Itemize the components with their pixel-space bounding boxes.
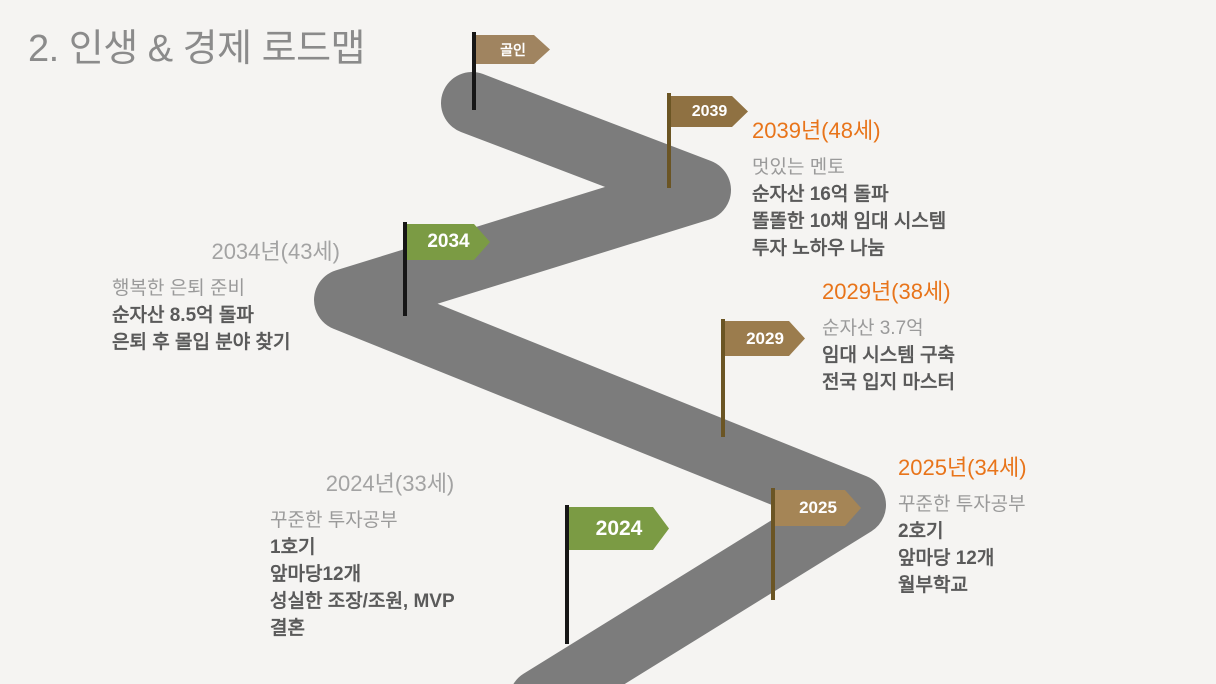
- flag-pole: [721, 319, 725, 437]
- milestone-line: 앞마당 12개: [898, 545, 1027, 572]
- milestone-2024: 2024년(33세) 꾸준한 투자공부 1호기 앞마당12개 성실한 조장/조원…: [270, 466, 510, 642]
- flag-label: 2025: [799, 498, 837, 518]
- milestone-2039: 2039년(48세) 멋있는 멘토 순자산 16억 돌파 똘똘한 10채 임대 …: [752, 113, 946, 262]
- milestone-line: 월부학교: [898, 572, 1027, 599]
- flag-pole: [403, 222, 407, 316]
- milestone-line: 순자산 3.7억: [822, 315, 955, 342]
- flag-pole: [472, 32, 476, 110]
- milestone-line: 멋있는 멘토: [752, 154, 946, 181]
- milestone-heading: 2025년(34세): [898, 450, 1027, 482]
- milestone-2025: 2025년(34세) 꾸준한 투자공부 2호기 앞마당 12개 월부학교: [898, 450, 1027, 599]
- roadmap-slide: 2. 인생 & 경제 로드맵 골인 2039 2034 2029 2025: [0, 0, 1216, 684]
- flag-banner: 2025: [775, 490, 861, 526]
- milestone-line: 꾸준한 투자공부: [898, 491, 1027, 518]
- milestone-line: 결혼: [270, 615, 510, 642]
- milestone-line: 앞마당12개: [270, 561, 510, 588]
- milestone-line: 순자산 8.5억 돌파: [112, 302, 340, 329]
- milestone-line: 2호기: [898, 518, 1027, 545]
- flag-banner: 2034: [407, 224, 490, 260]
- flag-label: 2034: [427, 231, 469, 253]
- flag-banner: 2039: [671, 96, 748, 127]
- milestone-line: 은퇴 후 몰입 분야 찾기: [112, 329, 340, 356]
- milestone-heading: 2039년(48세): [752, 113, 946, 145]
- milestone-heading: 2034년(43세): [112, 234, 340, 266]
- milestone-2029: 2029년(38세) 순자산 3.7억 임대 시스템 구축 전국 입지 마스터: [822, 274, 955, 396]
- flag-pole: [771, 488, 775, 600]
- flag-label: 골인: [500, 40, 526, 60]
- milestone-line: 꾸준한 투자공부: [270, 507, 510, 534]
- flag-label: 2039: [692, 103, 728, 121]
- milestone-2034: 2034년(43세) 행복한 은퇴 준비 순자산 8.5억 돌파 은퇴 후 몰입…: [112, 234, 340, 356]
- flag-banner: 2024: [569, 507, 669, 550]
- milestone-line: 똘똘한 10채 임대 시스템: [752, 208, 946, 235]
- flag-label: 2024: [596, 517, 643, 541]
- milestone-line: 투자 노하우 나눔: [752, 235, 946, 262]
- milestone-heading: 2029년(38세): [822, 274, 955, 306]
- milestone-line: 행복한 은퇴 준비: [112, 275, 340, 302]
- milestone-line: 전국 입지 마스터: [822, 369, 955, 396]
- flag-banner: 2029: [725, 321, 805, 356]
- milestone-heading: 2024년(33세): [270, 466, 510, 498]
- milestone-line: 임대 시스템 구축: [822, 342, 955, 369]
- milestone-line: 성실한 조장/조원, MVP: [270, 588, 510, 615]
- flag-pole: [667, 93, 671, 188]
- milestone-line: 1호기: [270, 534, 510, 561]
- flag-pole: [565, 505, 569, 644]
- flag-label: 2029: [746, 329, 784, 349]
- milestone-line: 순자산 16억 돌파: [752, 181, 946, 208]
